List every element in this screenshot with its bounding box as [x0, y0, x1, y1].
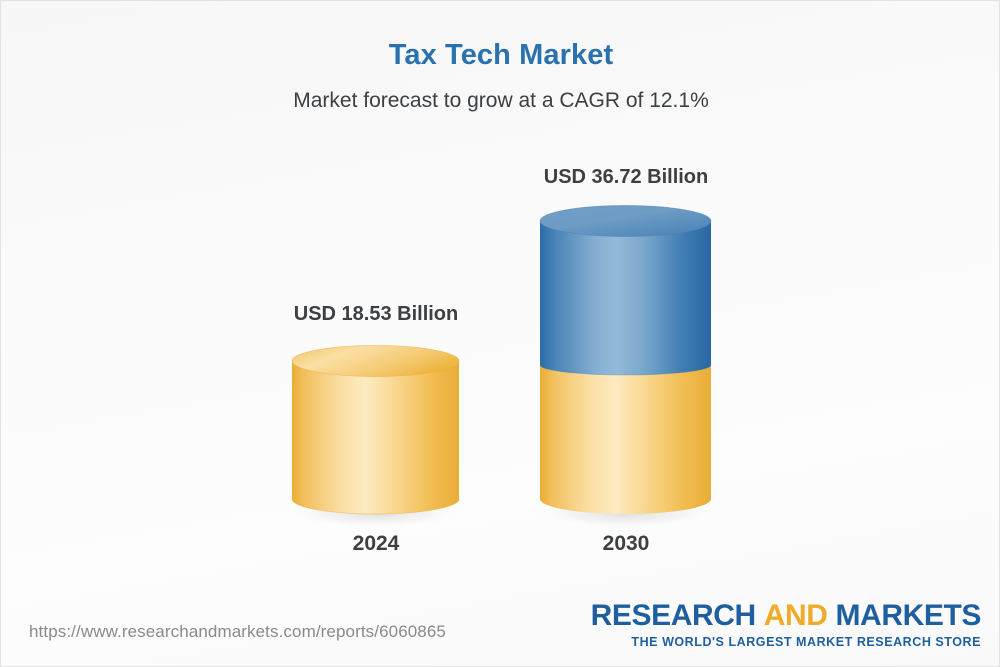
cylinder-bars-group	[1, 1, 1000, 601]
bar-2030	[538, 206, 714, 529]
logo-word-and: AND	[764, 599, 828, 632]
category-label-2024: 2024	[276, 532, 476, 556]
research-and-markets-logo[interactable]: RESEARCH AND MARKETS THE WORLD'S LARGEST…	[591, 601, 981, 649]
logo-word-markets: MARKETS	[835, 599, 981, 632]
chart-canvas: Tax Tech Market Market forecast to grow …	[0, 0, 1000, 667]
logo-wordmark: RESEARCH AND MARKETS	[591, 601, 981, 632]
logo-word-research: RESEARCH	[591, 599, 756, 632]
logo-tagline: THE WORLD'S LARGEST MARKET RESEARCH STOR…	[591, 635, 981, 649]
category-label-2030: 2030	[526, 532, 726, 556]
plot-area: USD 36.72 Billion USD 18.53 Billion	[1, 1, 1000, 601]
report-url[interactable]: https://www.researchandmarkets.com/repor…	[29, 622, 446, 642]
bar-2024	[290, 346, 462, 529]
